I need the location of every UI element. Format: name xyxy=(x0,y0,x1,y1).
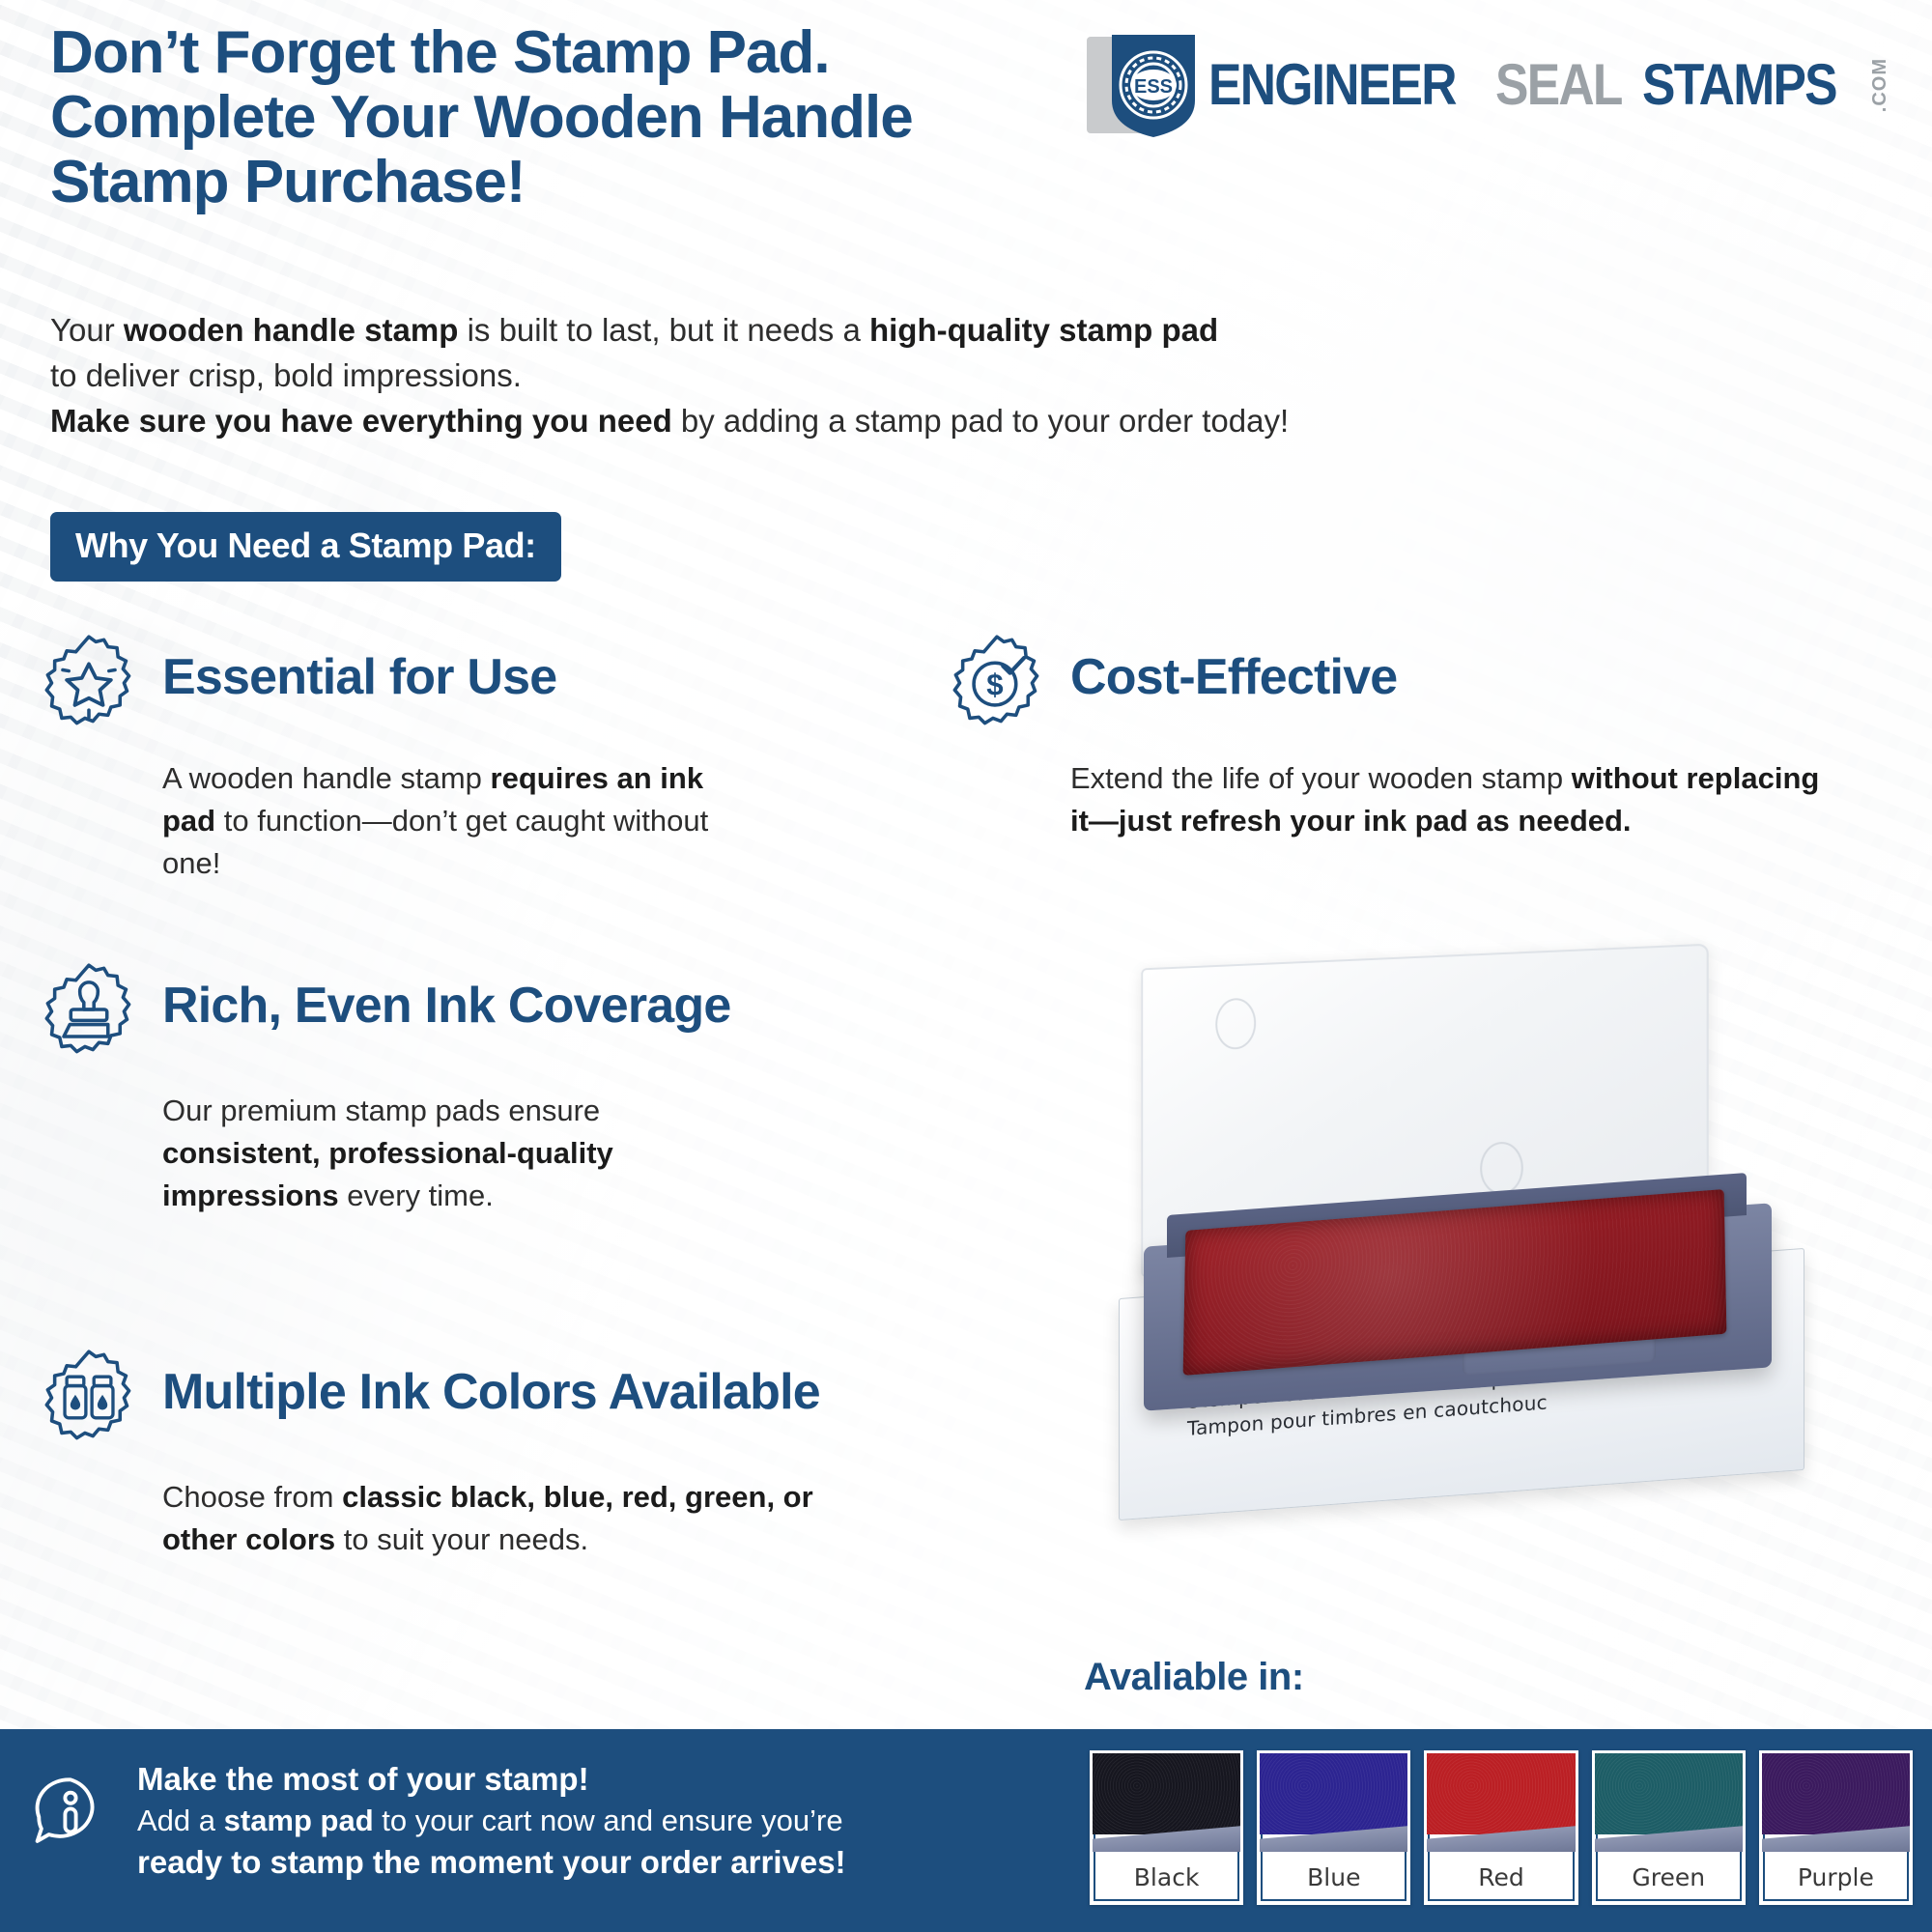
feature-body-c: to suit your needs. xyxy=(335,1522,588,1556)
feature-body: Extend the life of your wooden stamp wit… xyxy=(1070,757,1843,842)
swatch-ink-preview xyxy=(1595,1753,1743,1852)
swatch-ink-preview xyxy=(1427,1753,1575,1852)
logo-word-engineer: ENGINEER xyxy=(1208,56,1456,114)
headline-line-2: Complete Your Wooden Handle xyxy=(50,86,1055,151)
footer-line-2: Add a stamp pad to your cart now and ens… xyxy=(137,1801,846,1841)
intro-paragraph: Your wooden handle stamp is built to las… xyxy=(50,307,1499,444)
intro-p2: to deliver crisp, bold impressions. xyxy=(50,353,1499,398)
feature-title: Multiple Ink Colors Available xyxy=(162,1352,820,1419)
feature-multiple-ink-colors: Multiple Ink Colors Available Choose fro… xyxy=(39,1352,831,1561)
ink-color-swatches: BlackBlueRedGreenPurple xyxy=(1082,1741,1920,1915)
swatch-ink-surface xyxy=(1595,1753,1743,1834)
logo-tld: .COM xyxy=(1870,58,1889,112)
swatch-label: Red xyxy=(1427,1852,1575,1902)
swatch-ink-surface xyxy=(1093,1753,1240,1834)
lid-dimple xyxy=(1215,998,1256,1050)
footer-line-1: Make the most of your stamp! xyxy=(137,1758,846,1801)
brand-logo[interactable]: ESS ENGINEER SEAL STAMPS .COM xyxy=(1087,31,1889,139)
intro-p3-b: by adding a stamp pad to your order toda… xyxy=(672,403,1289,439)
feature-body: Choose from classic black, blue, red, gr… xyxy=(162,1476,838,1561)
feature-cost-effective: $ Cost-Effective Extend the life of your… xyxy=(947,638,1816,842)
intro-p1-d: high-quality stamp pad xyxy=(869,312,1218,348)
swatch-ink-preview xyxy=(1093,1753,1240,1852)
footer-line-3: ready to stamp the moment your order arr… xyxy=(137,1841,846,1884)
logo-wordmark: ENGINEER SEAL STAMPS .COM xyxy=(1208,56,1889,114)
star-badge-icon xyxy=(39,632,139,732)
feature-body-a: Choose from xyxy=(162,1480,342,1514)
feature-body-c: every time. xyxy=(339,1179,494,1212)
feature-title: Rich, Even Ink Coverage xyxy=(162,966,731,1033)
why-banner: Why You Need a Stamp Pad: xyxy=(50,512,561,582)
svg-text:ESS: ESS xyxy=(1134,76,1173,98)
feature-rich-even-ink-coverage: Rich, Even Ink Coverage Our premium stam… xyxy=(39,966,773,1217)
intro-p1-b: wooden handle stamp xyxy=(124,312,459,348)
feature-body-a: Our premium stamp pads ensure xyxy=(162,1094,600,1127)
swatch-label: Purple xyxy=(1762,1852,1910,1902)
ink-swatch-blue[interactable]: Blue xyxy=(1257,1750,1410,1905)
footer-line-2-b: stamp pad xyxy=(224,1804,374,1837)
feature-body-a: A wooden handle stamp xyxy=(162,761,491,795)
logo-word-stamps: STAMPS xyxy=(1642,56,1836,114)
logo-word-seal: SEAL xyxy=(1495,56,1622,114)
headline-line-1: Don’t Forget the Stamp Pad. xyxy=(50,21,1055,86)
swatch-label: Blue xyxy=(1260,1852,1407,1902)
headline-line-3: Stamp Purchase! xyxy=(50,151,1055,215)
swatch-ink-preview xyxy=(1762,1753,1910,1852)
intro-p1-a: Your xyxy=(50,312,124,348)
footer-message: Make the most of your stamp! Add a stamp… xyxy=(137,1758,846,1884)
ink-swatch-red[interactable]: Red xyxy=(1424,1750,1577,1905)
svg-text:$: $ xyxy=(986,668,1003,702)
available-in-label: Avaliable in: xyxy=(1084,1656,1304,1699)
feature-body-a: Extend the life of your wooden stamp xyxy=(1070,761,1572,795)
swatch-ink-surface xyxy=(1260,1753,1407,1834)
ess-shield-icon: ESS xyxy=(1087,31,1199,139)
ink-bottles-badge-icon xyxy=(39,1347,139,1447)
ink-swatch-green[interactable]: Green xyxy=(1592,1750,1746,1905)
rubber-stamp-badge-icon xyxy=(39,960,139,1061)
swatch-label: Green xyxy=(1595,1852,1743,1902)
infographic-page: Don’t Forget the Stamp Pad. Complete You… xyxy=(0,0,1932,1932)
feature-body: A wooden handle stamp requires an ink pa… xyxy=(162,757,761,885)
swatch-ink-surface xyxy=(1427,1753,1575,1834)
footer-line-2-c: to your cart now and ensure you’re xyxy=(374,1804,843,1837)
feature-body: Our premium stamp pads ensure consistent… xyxy=(162,1090,742,1217)
intro-p3-a: Make sure you have everything you need xyxy=(50,403,672,439)
footer-line-2-a: Add a xyxy=(137,1804,224,1837)
feature-title: Essential for Use xyxy=(162,638,556,704)
feature-body-c: to function—don’t get caught without one… xyxy=(162,804,708,880)
swatch-ink-preview xyxy=(1260,1753,1407,1852)
page-title: Don’t Forget the Stamp Pad. Complete You… xyxy=(50,21,1055,215)
dollar-check-badge-icon: $ xyxy=(947,632,1047,732)
feature-title: Cost-Effective xyxy=(1070,638,1397,704)
intro-p1-c: is built to last, but it needs a xyxy=(458,312,869,348)
info-bubble-icon xyxy=(29,1770,112,1853)
product-photo: Stamp pad for rubber stamps Almohadilla … xyxy=(1092,966,1826,1526)
swatch-label: Black xyxy=(1093,1852,1240,1902)
lid-dimple xyxy=(1480,1142,1523,1195)
swatch-ink-surface xyxy=(1762,1753,1910,1834)
feature-essential-for-use: Essential for Use A wooden handle stamp … xyxy=(39,638,753,885)
ink-swatch-purple[interactable]: Purple xyxy=(1759,1750,1913,1905)
header: Don’t Forget the Stamp Pad. Complete You… xyxy=(50,21,1893,215)
ink-swatch-black[interactable]: Black xyxy=(1090,1750,1243,1905)
